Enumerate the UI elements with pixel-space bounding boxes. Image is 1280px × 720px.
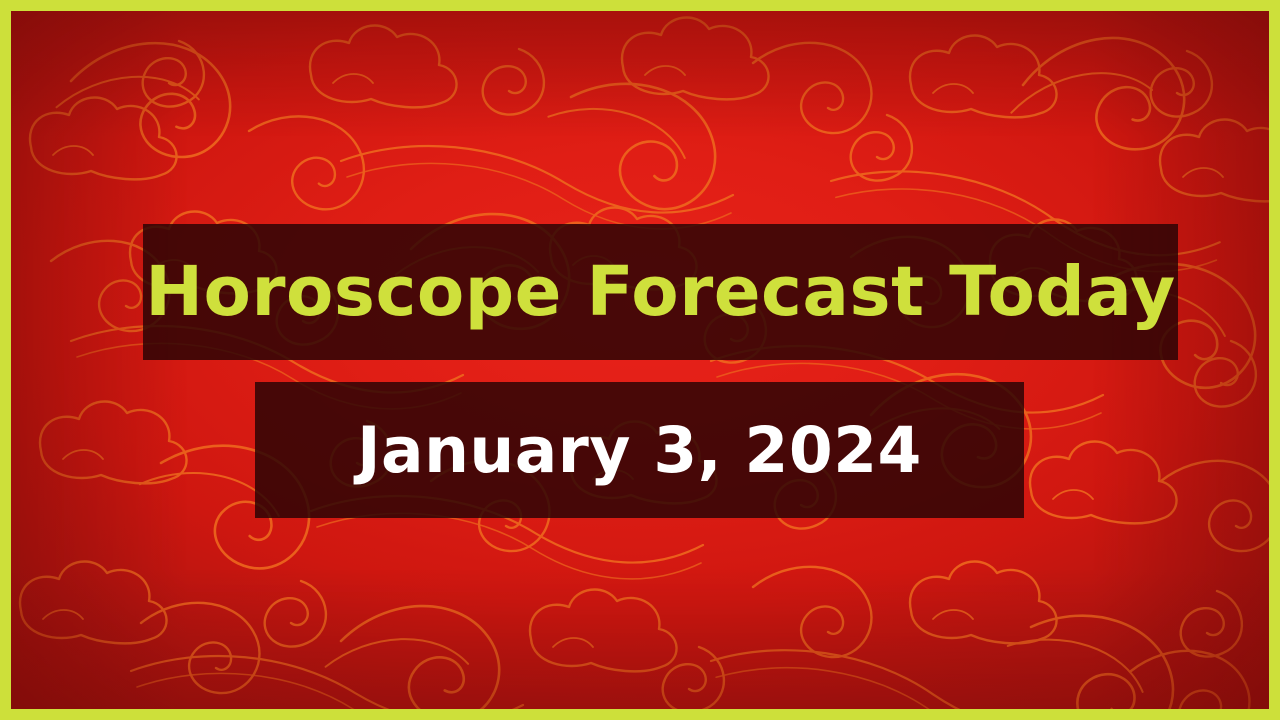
date-label: January 3, 2024 bbox=[357, 419, 922, 482]
page-title: Horoscope Forecast Today bbox=[145, 258, 1175, 327]
headline-band: Horoscope Forecast Today bbox=[143, 224, 1178, 360]
horoscope-banner-graphic: Horoscope Forecast Today January 3, 2024 bbox=[0, 0, 1280, 720]
cloud-swirl-pattern bbox=[11, 11, 1269, 709]
date-band: January 3, 2024 bbox=[255, 382, 1024, 518]
banner-inner-frame bbox=[11, 11, 1269, 709]
